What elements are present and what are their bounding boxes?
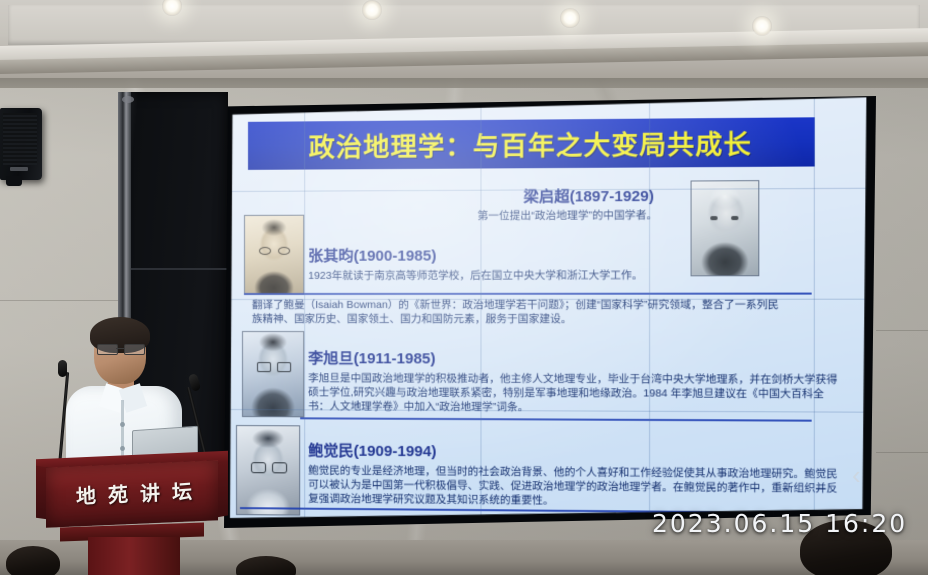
camera-timestamp: 2023.06.15 16:20 — [652, 509, 907, 538]
glasses-icon — [97, 344, 143, 353]
wall-seam — [876, 330, 928, 331]
chevron-left-icon[interactable]: ‹ — [852, 460, 861, 491]
shirt-button — [120, 422, 125, 427]
entry-name-li-xudan: 李旭旦(1911-1985) — [308, 347, 837, 369]
zhang-qiyun-portrait — [244, 215, 304, 295]
microphone-icon — [58, 360, 67, 377]
slide-title-bar: 政治地理学：与百年之大变局共成长 — [248, 117, 815, 170]
door-sensor-icon — [122, 96, 134, 103]
entry-name-liang-qichao: 梁启超(1897-1929) — [523, 185, 654, 207]
downlight-icon — [752, 16, 772, 36]
wall-seam — [876, 452, 928, 453]
entry-bao-juemin: 鲍觉民(1909-1994) 鲍觉民的专业是经济地理，但当时的社会政治背景、他的… — [308, 439, 837, 510]
downlight-icon — [362, 0, 382, 20]
bao-juemin-portrait — [236, 425, 300, 516]
wall-seam — [0, 300, 130, 301]
entry-zhang-qiyun-notes: 翻译了鲍曼（Isaiah Bowman）的《新世界：政治地理学若干问题》；创建“… — [252, 298, 779, 327]
liang-qichao-portrait — [691, 180, 760, 276]
entry-note-line: 翻译了鲍曼（Isaiah Bowman）的《新世界：政治地理学若干问题》；创建“… — [252, 298, 779, 312]
section-divider — [244, 293, 812, 295]
entry-note-line: 族精神、国家历史、国家领土、国力和国防元素，服务于国家建设。 — [252, 312, 779, 326]
podium-sign-char: 地 — [76, 479, 97, 510]
entry-li-xudan: 李旭旦(1911-1985) 李旭旦是中国政治地理学的积极推动者，他主修人文地理… — [308, 347, 837, 416]
podium-sign-char: 讲 — [140, 476, 161, 507]
speaker-grille — [3, 113, 37, 165]
panel-seam — [131, 268, 228, 270]
speaker-mount-bracket — [6, 176, 22, 186]
podium-sign-char: 坛 — [172, 475, 193, 506]
podium: 地 苑 讲 坛 — [36, 455, 228, 575]
podium-sign-char: 苑 — [108, 477, 129, 508]
entry-zhang-qiyun: 张其昀(1900-1985) 1923年就读于南京高等师范学校，后在国立中央大学… — [308, 244, 643, 283]
podium-column — [88, 537, 180, 575]
audience-head — [6, 546, 60, 575]
wall-loudspeaker — [0, 108, 42, 180]
lecture-hall-photo: 政治地理学：与百年之大变局共成长 梁启超(1897-1929) 第一位提出“政治… — [0, 0, 928, 575]
entry-name-zhang-qiyun: 张其昀(1900-1985) — [308, 244, 643, 266]
section-divider — [300, 417, 812, 421]
entry-desc-line: 书：人文地理学卷》中加入“政治地理学”词条。 — [308, 399, 837, 415]
slide-title: 政治地理学：与百年之大变局共成长 — [309, 123, 752, 164]
downlight-icon — [560, 8, 580, 28]
slide: 政治地理学：与百年之大变局共成长 梁启超(1897-1929) 第一位提出“政治… — [230, 97, 866, 523]
li-xudan-portrait — [242, 331, 304, 417]
presentation-screen[interactable]: 政治地理学：与百年之大变局共成长 梁启超(1897-1929) 第一位提出“政治… — [230, 97, 866, 523]
shirt-button — [120, 446, 125, 451]
entry-desc-liang-qichao: 第一位提出“政治地理学”的中国学者。 — [477, 207, 657, 223]
entry-desc-zhang-qiyun: 1923年就读于南京高等师范学校，后在国立中央大学和浙江大学工作。 — [308, 268, 643, 283]
entry-name-bao-juemin: 鲍觉民(1909-1994) — [308, 439, 837, 463]
speaker-badge — [10, 167, 28, 171]
podium-sign: 地 苑 讲 坛 — [76, 472, 192, 511]
